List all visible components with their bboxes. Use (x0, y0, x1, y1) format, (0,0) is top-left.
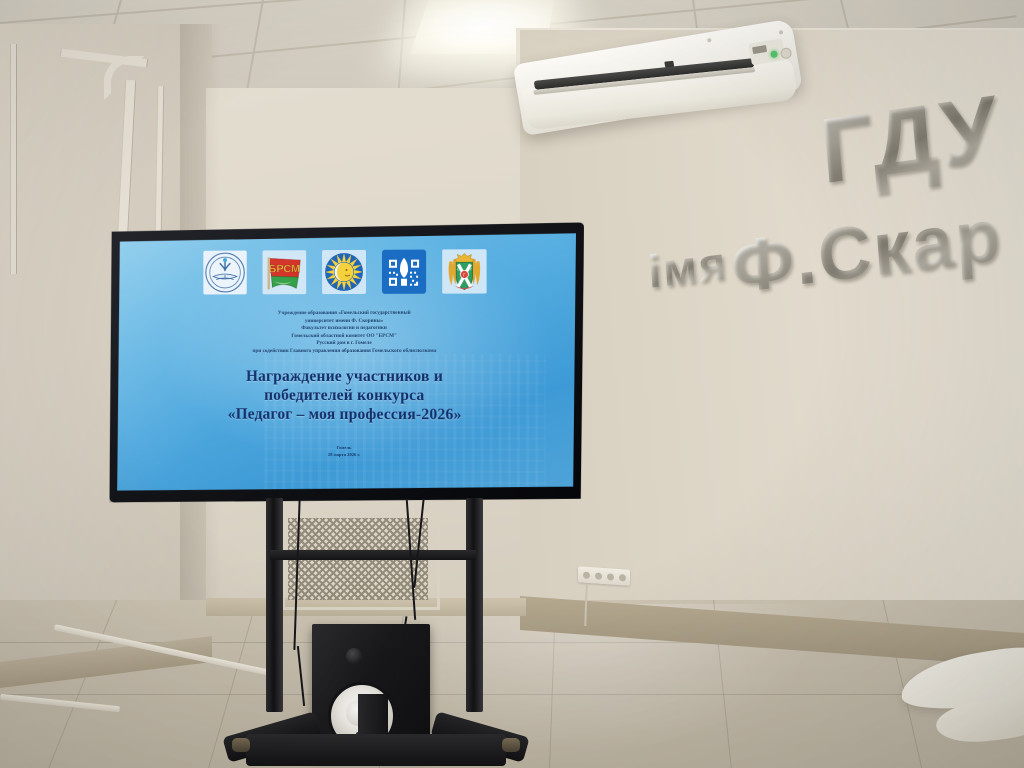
slide-date: 28 марта 2026 г. (135, 450, 558, 459)
stand-crossbar (270, 550, 476, 560)
slide-title-line: «Педагог – моя профессия-2026» (135, 404, 558, 424)
room-photo: ГДУ імя Ф.Скар (0, 0, 1024, 768)
air-conditioner-sensor (664, 61, 674, 68)
slide-title-line: Награждение участников и (135, 367, 558, 386)
slide-organisation-lines: Учреждение образования «Гомельский госуд… (135, 309, 558, 355)
brsm-logo: БРСМ (263, 250, 307, 294)
stand-post-right (466, 498, 483, 712)
stand-caster-wheel (502, 738, 520, 752)
university-emblem-logo (203, 251, 246, 295)
wall-conduit-left (10, 44, 17, 274)
slide-footer: Гомель 28 марта 2026 г. (135, 443, 558, 459)
stand-column (358, 694, 388, 738)
stand-base (246, 734, 506, 766)
slide-title: Награждение участников и победителей кон… (135, 367, 558, 425)
slide-logo-row: БРСМ (135, 249, 558, 295)
slide-title-line: победителей конкурса (135, 385, 558, 405)
org-line: при содействии Главного управления образ… (135, 348, 558, 356)
wall-display[interactable]: БРСМ (109, 222, 584, 505)
wall-sign-line-2-prefix: імя (646, 235, 729, 299)
presentation-slide: БРСМ (117, 233, 576, 494)
speaker-tweeter (346, 648, 362, 664)
svg-text:С: С (457, 266, 460, 271)
sun-emblem-logo (322, 250, 366, 294)
svg-text:БРСМ: БРСМ (269, 263, 301, 275)
mobile-tv-stand (246, 498, 506, 768)
stand-post-left (266, 498, 283, 712)
stand-caster-wheel (232, 738, 250, 752)
gomel-region-coat-of-arms: Г С У (442, 249, 486, 293)
russian-house-logo (382, 250, 426, 294)
display-screen[interactable]: БРСМ (117, 233, 576, 494)
